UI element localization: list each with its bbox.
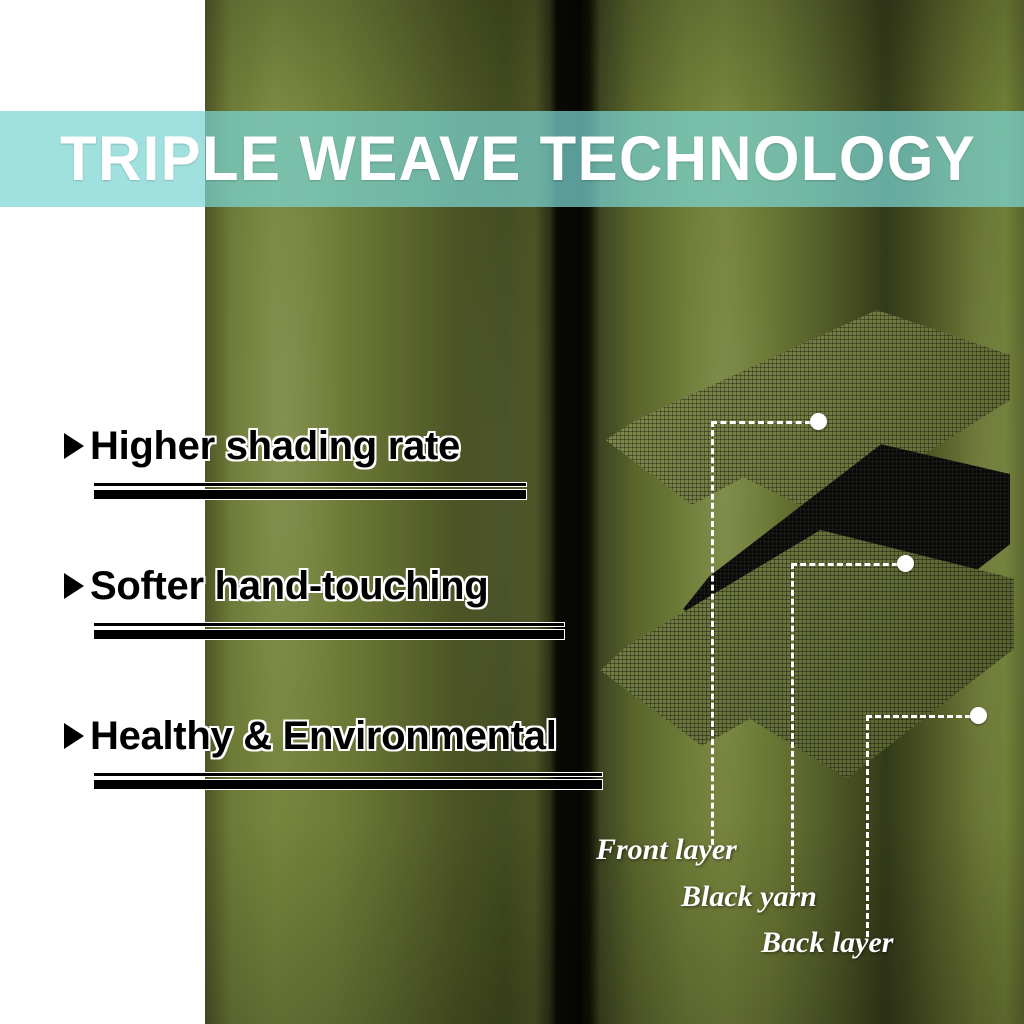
feature-underline-3 (94, 773, 602, 789)
feature-item-1: Higher shading rate (64, 418, 526, 499)
back-layer-swatch (574, 530, 1014, 800)
feature-item-2: Softer hand-touching (64, 558, 564, 639)
underline-thin (94, 623, 564, 626)
callout-dot-back-layer (970, 707, 987, 724)
feature-label-1: Higher shading rate (90, 424, 460, 469)
callout-dot-front-layer (810, 413, 827, 430)
underline-thick (94, 630, 564, 639)
leader-line-front-vertical (711, 421, 714, 845)
caption-front-layer: Front layer (596, 833, 737, 867)
triangle-bullet-icon (64, 433, 84, 459)
caption-back-layer: Back layer (761, 926, 893, 960)
feature-underline-2 (94, 623, 564, 639)
feature-label-3: Healthy & Environmental (90, 714, 557, 759)
leader-line-yarn-vertical (791, 563, 794, 891)
underline-thick (94, 490, 526, 499)
triangle-bullet-icon (64, 723, 84, 749)
caption-black-yarn: Black yarn (681, 880, 817, 914)
leader-line-back-vertical (866, 715, 869, 937)
leader-line-yarn-horizontal (791, 563, 898, 566)
page-title: TRIPLE WEAVE TECHNOLOGY (60, 117, 972, 201)
feature-item-3: Healthy & Environmental (64, 708, 602, 789)
underline-thin (94, 773, 602, 776)
leader-line-front-horizontal (711, 421, 811, 424)
triangle-bullet-icon (64, 573, 84, 599)
underline-thin (94, 483, 526, 486)
leader-line-back-horizontal (866, 715, 971, 718)
feature-label-2: Softer hand-touching (90, 564, 488, 609)
feature-underline-1 (94, 483, 526, 499)
underline-thick (94, 780, 602, 789)
callout-dot-black-yarn (897, 555, 914, 572)
product-infographic: TRIPLE WEAVE TECHNOLOGY Higher shading r… (0, 0, 1024, 1024)
